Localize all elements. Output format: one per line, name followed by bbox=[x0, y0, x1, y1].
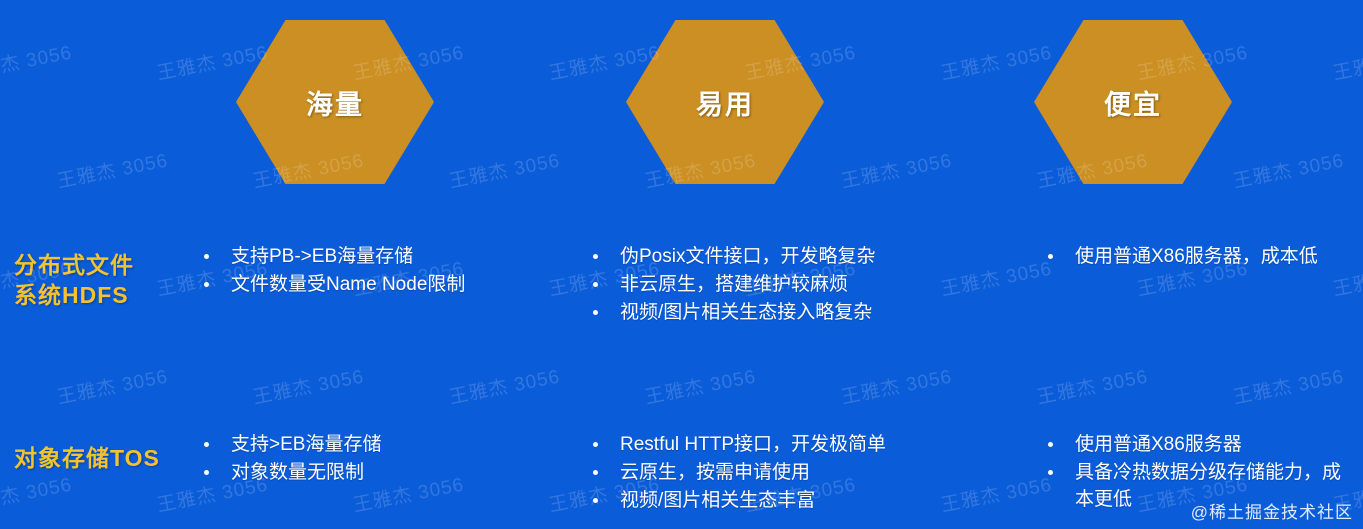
list-item-text: 使用普通X86服务器 bbox=[1075, 434, 1242, 455]
list-item-text: 对象数量无限制 bbox=[231, 462, 364, 483]
row-label-line2: 系统HDFS bbox=[14, 280, 194, 310]
list-item: 非云原生，搭建维护较麻烦 bbox=[586, 271, 946, 298]
tiled-watermark-text: 王雅杰 3056 bbox=[446, 362, 562, 410]
tiled-watermark-text: 王雅杰 3056 bbox=[0, 38, 74, 86]
list-item: 视频/图片相关生态接入略复杂 bbox=[586, 299, 946, 326]
tiled-watermark-text: 王雅杰 3056 bbox=[54, 362, 170, 410]
tiled-watermark-text: 王雅杰 3056 bbox=[1034, 362, 1150, 410]
bullet-dot-icon bbox=[593, 442, 598, 447]
bullet-dot-icon bbox=[1048, 254, 1053, 259]
list-item-text: 云原生，按需申请使用 bbox=[620, 462, 810, 483]
list-item-text: 文件数量受Name Node限制 bbox=[231, 274, 465, 295]
tiled-watermark-text: 王雅杰 3056 bbox=[642, 362, 758, 410]
list-item-text: 视频/图片相关生态丰富 bbox=[620, 490, 815, 511]
hexagon-label: 易用 bbox=[696, 83, 754, 122]
bullet-dot-icon bbox=[204, 442, 209, 447]
list-item: 文件数量受Name Node限制 bbox=[197, 271, 497, 298]
list-item: 支持PB->EB海量存储 bbox=[197, 243, 497, 270]
row-label-hdfs: 分布式文件 系统HDFS bbox=[14, 250, 194, 310]
bullet-list-hdfs-cost: 使用普通X86服务器，成本低 bbox=[1041, 243, 1346, 271]
slide-canvas: 王雅杰 3056王雅杰 3056王雅杰 3056王雅杰 3056王雅杰 3056… bbox=[0, 0, 1363, 529]
tiled-watermark-text: 王雅杰 3056 bbox=[838, 146, 954, 194]
bullet-list-tos-usability: Restful HTTP接口，开发极简单 云原生，按需申请使用 视频/图片相关生… bbox=[586, 431, 966, 515]
hexagon-badge-easy-use: 易用 bbox=[626, 20, 824, 184]
tiled-watermark-text: 王雅杰 3056 bbox=[1230, 362, 1346, 410]
list-item: 视频/图片相关生态丰富 bbox=[586, 487, 966, 514]
tiled-watermark-text: 王雅杰 3056 bbox=[938, 254, 1054, 302]
bullet-list-hdfs-usability: 伪Posix文件接口，开发略复杂 非云原生，搭建维护较麻烦 视频/图片相关生态接… bbox=[586, 243, 946, 327]
tiled-watermark-text: 王雅杰 3056 bbox=[1330, 38, 1363, 86]
list-item: 使用普通X86服务器，成本低 bbox=[1041, 243, 1346, 270]
tiled-watermark-text: 王雅杰 3056 bbox=[250, 362, 366, 410]
list-item-text: 视频/图片相关生态接入略复杂 bbox=[620, 302, 872, 323]
list-item-text: Restful HTTP接口，开发极简单 bbox=[620, 434, 886, 455]
hexagon-badge-massive: 海量 bbox=[236, 20, 434, 184]
list-item-text: 使用普通X86服务器，成本低 bbox=[1075, 246, 1318, 267]
tiled-watermark-text: 王雅杰 3056 bbox=[1230, 146, 1346, 194]
hexagon-label: 海量 bbox=[306, 83, 364, 122]
bullet-dot-icon bbox=[204, 282, 209, 287]
tiled-watermark-text: 王雅杰 3056 bbox=[938, 38, 1054, 86]
bullet-dot-icon bbox=[593, 282, 598, 287]
tiled-watermark-text: 王雅杰 3056 bbox=[446, 146, 562, 194]
row-label-line1: 对象存储TOS bbox=[14, 443, 194, 473]
list-item: 使用普通X86服务器 bbox=[1041, 431, 1351, 458]
list-item: 支持>EB海量存储 bbox=[197, 431, 497, 458]
bullet-dot-icon bbox=[593, 310, 598, 315]
list-item: 伪Posix文件接口，开发略复杂 bbox=[586, 243, 946, 270]
site-credit-watermark: @稀土掘金技术社区 bbox=[1191, 498, 1353, 523]
bullet-dot-icon bbox=[204, 254, 209, 259]
list-item-text: 支持PB->EB海量存储 bbox=[231, 246, 413, 267]
tiled-watermark-text: 王雅杰 3056 bbox=[838, 362, 954, 410]
bullet-dot-icon bbox=[593, 254, 598, 259]
list-item-text: 非云原生，搭建维护较麻烦 bbox=[620, 274, 848, 295]
tiled-watermark-text: 王雅杰 3056 bbox=[54, 146, 170, 194]
bullet-dot-icon bbox=[204, 470, 209, 475]
tiled-watermark-text: 王雅杰 3056 bbox=[0, 470, 74, 518]
bullet-dot-icon bbox=[1048, 442, 1053, 447]
list-item: Restful HTTP接口，开发极简单 bbox=[586, 431, 966, 458]
row-label-tos: 对象存储TOS bbox=[14, 443, 194, 473]
list-item: 云原生，按需申请使用 bbox=[586, 459, 966, 486]
hexagon-label: 便宜 bbox=[1104, 83, 1162, 122]
bullet-list-hdfs-capacity: 支持PB->EB海量存储 文件数量受Name Node限制 bbox=[197, 243, 497, 299]
bullet-list-tos-capacity: 支持>EB海量存储 对象数量无限制 bbox=[197, 431, 497, 487]
row-label-line1: 分布式文件 bbox=[14, 250, 194, 280]
list-item-text: 支持>EB海量存储 bbox=[231, 434, 381, 455]
list-item: 对象数量无限制 bbox=[197, 459, 497, 486]
bullet-dot-icon bbox=[1048, 470, 1053, 475]
bullet-dot-icon bbox=[593, 498, 598, 503]
bullet-dot-icon bbox=[593, 470, 598, 475]
hexagon-badge-cheap: 便宜 bbox=[1034, 20, 1232, 184]
list-item-text: 伪Posix文件接口，开发略复杂 bbox=[620, 246, 875, 267]
